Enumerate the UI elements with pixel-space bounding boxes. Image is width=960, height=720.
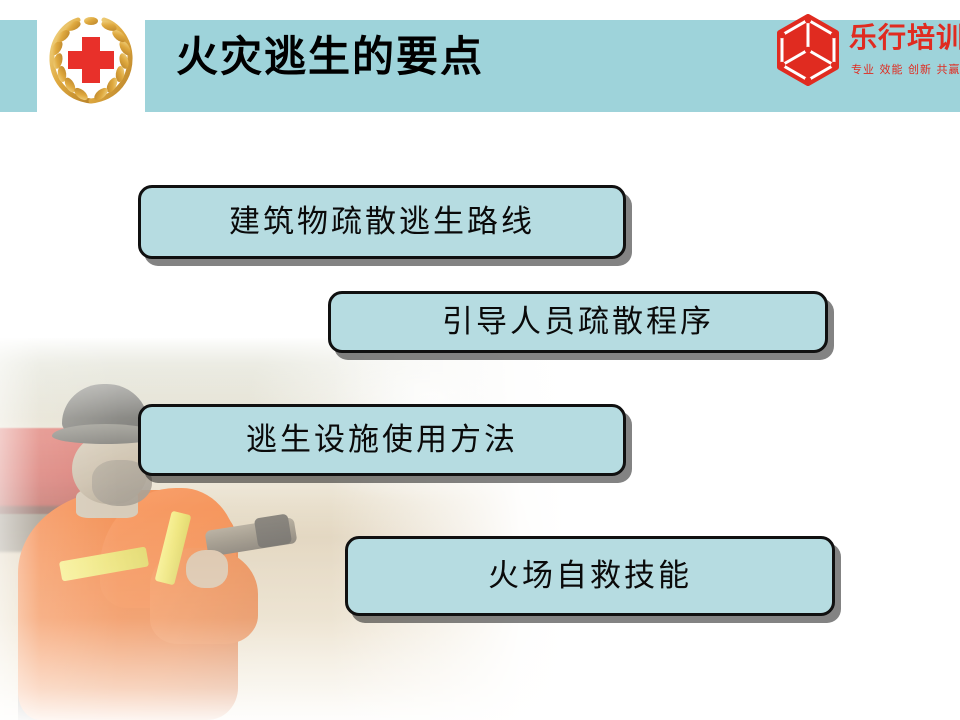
- hose-nozzle-shape: [254, 514, 292, 549]
- photo-scene: [0, 338, 580, 720]
- red-hexagon-cube-logo-icon: [775, 14, 841, 88]
- callout-box-1-label: 建筑物疏散逃生路线: [229, 207, 535, 238]
- callout-box-3[interactable]: 逃生设施使用方法: [138, 404, 626, 476]
- brand-logo: 乐行培训 专业 效能 创新 共赢: [775, 8, 955, 100]
- page-title: 火灾逃生的要点: [176, 36, 484, 78]
- callout-box-2[interactable]: 引导人员疏散程序: [328, 291, 828, 353]
- brand-name: 乐行培训: [849, 24, 960, 52]
- slide-canvas: 火灾逃生的要点: [0, 0, 960, 720]
- firefighter-photo: [0, 338, 580, 720]
- callout-box-3-label: 逃生设施使用方法: [246, 425, 518, 456]
- callout-box-2-label: 引导人员疏散程序: [442, 307, 714, 338]
- firefighter-hand-shape: [186, 550, 228, 588]
- callout-box-4-label: 火场自救技能: [488, 561, 692, 592]
- callout-box-1[interactable]: 建筑物疏散逃生路线: [138, 185, 626, 259]
- red-cross-laurel-emblem-icon: [45, 14, 137, 106]
- callout-box-4[interactable]: 火场自救技能: [345, 536, 835, 616]
- brand-slogan: 专业 效能 创新 共赢: [851, 64, 960, 75]
